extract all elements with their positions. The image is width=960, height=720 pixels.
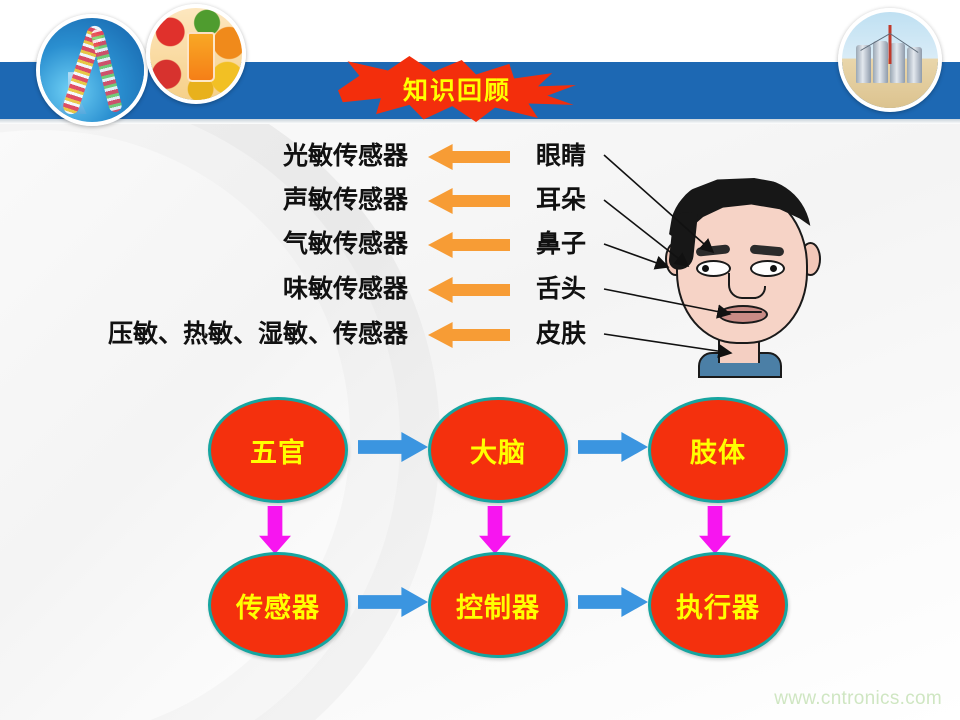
page-title: 知识回顾 xyxy=(338,56,576,122)
flow-node-danao[interactable]: 大脑 xyxy=(428,397,568,503)
eye-left-shape xyxy=(696,260,731,277)
fruit-juice-photo xyxy=(146,4,246,104)
mouth-line-shape xyxy=(720,311,762,313)
mouth-shape xyxy=(718,305,768,324)
grain-silo-photo xyxy=(838,8,942,112)
flow-node-zhixingqi[interactable]: 执行器 xyxy=(648,552,788,658)
pupil-left-shape xyxy=(702,265,709,272)
pupil-right-shape xyxy=(770,265,777,272)
silo-icon xyxy=(890,43,905,83)
organ-label-1: 眼睛 xyxy=(536,139,586,173)
sensor-label-2: 声敏传感器 xyxy=(60,183,408,217)
sensor-label-3: 气敏传感器 xyxy=(60,227,408,261)
face-illustration xyxy=(640,168,850,373)
organ-label-2: 耳朵 xyxy=(536,183,586,217)
flow-node-kongzhiqi[interactable]: 控制器 xyxy=(428,552,568,658)
dna-science-photo xyxy=(36,14,148,126)
slide-canvas: 知识回顾 光敏传感器 眼睛 声敏传感器 耳朵 气敏传感器 鼻子 味敏传感器 舌头… xyxy=(0,0,960,720)
organ-label-4: 舌头 xyxy=(536,272,586,306)
silo-icon xyxy=(856,45,871,83)
site-watermark: www.cntronics.com xyxy=(774,688,942,710)
sensor-label-4: 味敏传感器 xyxy=(60,272,408,306)
silo-mast-icon xyxy=(889,25,892,63)
flow-node-zhiti[interactable]: 肢体 xyxy=(648,397,788,503)
sensor-label-5: 压敏、热敏、湿敏、传感器 xyxy=(60,317,408,351)
flow-node-wuguan[interactable]: 五官 xyxy=(208,397,348,503)
organ-label-3: 鼻子 xyxy=(536,227,586,261)
silo-icon xyxy=(907,47,922,83)
flow-node-chuanganqi[interactable]: 传感器 xyxy=(208,552,348,658)
organ-label-5: 皮肤 xyxy=(536,317,586,351)
sensor-label-1: 光敏传感器 xyxy=(60,139,408,173)
juice-glass-icon xyxy=(187,32,215,82)
silo-icon xyxy=(873,41,888,83)
